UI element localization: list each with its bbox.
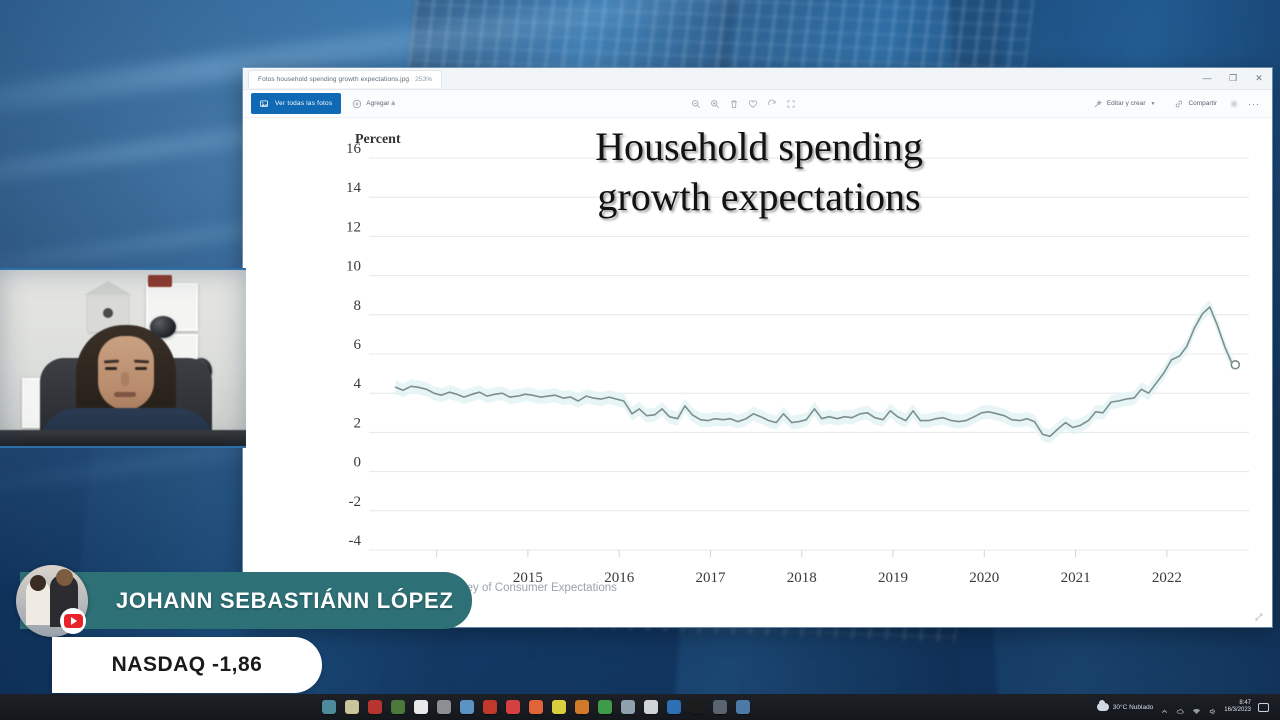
taskbar-icon-14[interactable]: [621, 700, 635, 714]
share-button[interactable]: Compartir: [1167, 93, 1224, 114]
taskbar-icon-10[interactable]: [529, 700, 543, 714]
y-tick-label: -4: [349, 533, 362, 549]
rotate-icon[interactable]: [767, 99, 777, 109]
tab-title: Fotos household spending growth expectat…: [258, 76, 409, 83]
x-tick-label: 2017: [695, 570, 726, 586]
taskbar-icon-19[interactable]: [736, 700, 750, 714]
taskbar-icon-13[interactable]: [598, 700, 612, 714]
zoom-in-icon[interactable]: [710, 99, 720, 109]
taskbar-icon-5[interactable]: [414, 700, 428, 714]
maximize-button[interactable]: ❐: [1220, 68, 1246, 89]
y-tick-label: 12: [346, 219, 361, 235]
chart-title-line1: Household spending: [595, 124, 923, 169]
magic-wand-icon: [1093, 99, 1103, 109]
y-tick-label: 10: [346, 259, 361, 275]
taskbar-icon-17[interactable]: [690, 700, 704, 714]
gear-icon[interactable]: [1229, 99, 1239, 109]
window-tab[interactable]: Fotos household spending growth expectat…: [248, 70, 442, 88]
taskbar-icon-8[interactable]: [483, 700, 497, 714]
taskbar-icon-3[interactable]: [368, 700, 382, 714]
x-tick-label: 2019: [878, 570, 908, 586]
share-label: Compartir: [1188, 100, 1217, 107]
weather-label: 30°C Nublado: [1113, 704, 1154, 711]
taskbar-icon-6[interactable]: [437, 700, 451, 714]
avatar-head-left: [30, 575, 46, 591]
share-icon: [1174, 99, 1184, 109]
y-tick-label: 14: [346, 180, 362, 196]
taskbar-icon-18[interactable]: [713, 700, 727, 714]
y-tick-label: 0: [354, 455, 362, 471]
taskbar-icon-9[interactable]: [506, 700, 520, 714]
youtube-play-glyph: [64, 614, 83, 628]
window-titlebar[interactable]: Fotos household spending growth expectat…: [243, 68, 1272, 90]
clock-widget[interactable]: 8:47 16/3/2023: [1224, 700, 1251, 715]
image-canvas[interactable]: 1614121086420-2-4 2014201520162017201820…: [243, 118, 1272, 627]
avatar-head-right: [56, 569, 73, 586]
webcam-vignette: [0, 270, 246, 446]
edit-and-create-label: Editar y crear: [1107, 100, 1146, 107]
onedrive-icon[interactable]: [1176, 703, 1185, 712]
see-all-photos-label: Ver todas las fotos: [275, 100, 332, 107]
x-tick-label: 2020: [969, 570, 999, 586]
y-tick-label: 8: [354, 298, 362, 314]
chart-end-marker: [1231, 361, 1239, 369]
see-all-photos-button[interactable]: Ver todas las fotos: [251, 93, 341, 114]
resize-grip-icon[interactable]: [1253, 610, 1265, 622]
photos-app-window[interactable]: Fotos household spending growth expectat…: [243, 68, 1272, 627]
y-tick-label: 6: [354, 337, 362, 353]
window-controls[interactable]: — ❐ ✕: [1194, 68, 1272, 89]
x-tick-label: 2021: [1061, 570, 1091, 586]
chart-image: 1614121086420-2-4 2014201520162017201820…: [243, 118, 1272, 627]
presenter-name: JOHANN SEBASTIÁNN LÓPEZ: [116, 588, 454, 614]
weather-widget[interactable]: 30°C Nublado: [1097, 703, 1154, 711]
viewer-toolbar[interactable]: Ver todas las fotos Agregar a: [243, 90, 1272, 118]
clock-date: 16/3/2023: [1224, 707, 1251, 715]
chevron-down-icon: ▼: [1150, 101, 1155, 107]
photo-collection-icon: [260, 99, 270, 109]
zoom-out-icon[interactable]: [691, 99, 701, 109]
notification-icon[interactable]: [1258, 703, 1269, 712]
taskbar-icon-11[interactable]: [552, 700, 566, 714]
x-tick-label: 2022: [1152, 570, 1182, 586]
ticker-banner: NASDAQ -1,86: [52, 637, 322, 693]
plus-circle-icon: [352, 99, 362, 109]
taskbar-icon-16[interactable]: [667, 700, 681, 714]
taskbar-icon-row[interactable]: [322, 700, 750, 714]
volume-icon[interactable]: [1208, 703, 1217, 712]
favorite-heart-icon[interactable]: [748, 99, 758, 109]
delete-icon[interactable]: [729, 99, 739, 109]
ticker-text: NASDAQ -1,86: [112, 653, 263, 677]
viewer-center-tools[interactable]: [691, 99, 796, 109]
zoom-level-label: 253%: [415, 76, 432, 83]
minimize-button[interactable]: —: [1194, 68, 1220, 89]
system-tray[interactable]: 30°C Nublado 8:47 16/3/2023: [1097, 700, 1274, 715]
taskbar-icon-1[interactable]: [322, 700, 336, 714]
viewer-right-tools[interactable]: Editar y crear ▼ Compartir ···: [1086, 93, 1264, 114]
x-tick-label: 2018: [787, 570, 817, 586]
taskbar-icon-7[interactable]: [460, 700, 474, 714]
add-to-button[interactable]: Agregar a: [345, 93, 402, 114]
chart-title-line2: growth expectations: [597, 174, 920, 219]
add-to-label: Agregar a: [366, 100, 395, 107]
more-options-button[interactable]: ···: [1244, 99, 1264, 109]
taskbar-icon-12[interactable]: [575, 700, 589, 714]
clock-time: 8:47: [1224, 700, 1251, 708]
youtube-icon: [60, 608, 86, 634]
y-tick-label: 2: [354, 415, 362, 431]
taskbar-icon-2[interactable]: [345, 700, 359, 714]
close-button[interactable]: ✕: [1246, 68, 1272, 89]
network-icon[interactable]: [1192, 703, 1201, 712]
windows-taskbar[interactable]: 30°C Nublado 8:47 16/3/2023: [0, 694, 1280, 720]
edit-and-create-button[interactable]: Editar y crear ▼: [1086, 93, 1163, 114]
fit-screen-icon[interactable]: [786, 99, 796, 109]
chevron-up-icon[interactable]: [1160, 703, 1169, 712]
y-tick-label: -2: [349, 494, 362, 510]
chart-y-axis-title: Percent: [355, 132, 401, 147]
taskbar-icon-15[interactable]: [644, 700, 658, 714]
y-tick-label: 4: [354, 376, 362, 392]
webcam-feed: [0, 268, 246, 448]
cloud-icon: [1097, 703, 1109, 711]
taskbar-icon-4[interactable]: [391, 700, 405, 714]
